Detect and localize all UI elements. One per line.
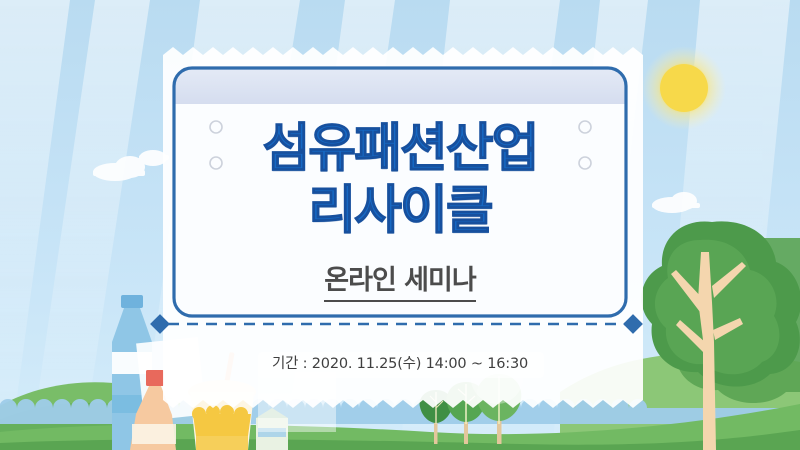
card-frame <box>174 68 626 316</box>
date-backdrop <box>258 352 544 378</box>
banner-canvas: 섬유패션산업 리사이클 온라인 세미나 기간 : 2020. 11.25(수) … <box>0 0 800 450</box>
card-layer <box>0 0 800 450</box>
card-header-band <box>174 68 626 104</box>
